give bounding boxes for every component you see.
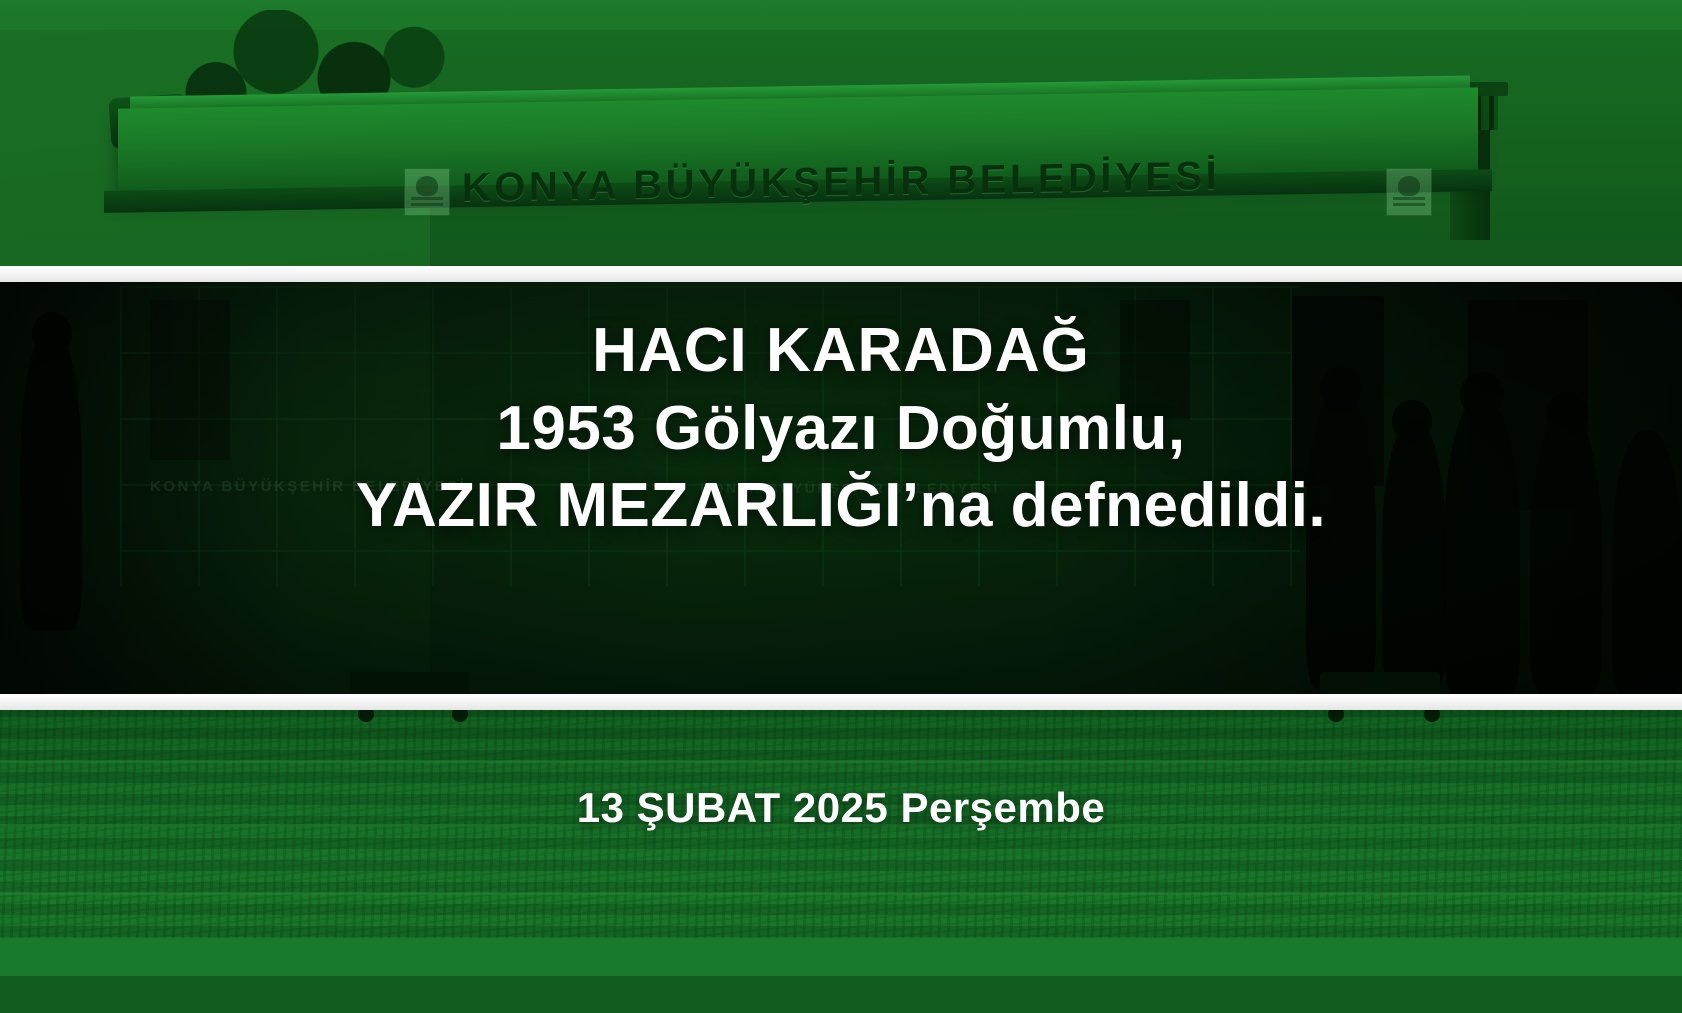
headline-line-1: HACI KARADAĞ	[0, 318, 1682, 384]
divider-bar-bottom	[0, 694, 1682, 710]
bottom-green-bar	[0, 938, 1682, 976]
date-text: 13 ŞUBAT 2025 Perşembe	[0, 784, 1682, 832]
headline-block: HACI KARADAĞ 1953 Gölyazı Doğumlu, YAZIR…	[0, 318, 1682, 539]
paving-texture	[0, 706, 1682, 976]
logo-lines	[1393, 197, 1425, 209]
headline-line-3: YAZIR MEZARLIĞI’na defnedildi.	[0, 473, 1682, 539]
step-edge	[0, 892, 1682, 895]
step-edge	[0, 760, 1682, 763]
headline-line-2: 1953 Gölyazı Doğumlu,	[0, 396, 1682, 462]
paving-ground	[0, 706, 1682, 976]
divider-bar-top	[0, 266, 1682, 282]
announcement-poster: KONYA BÜYÜKŞEHİR BELEDİYESİ KONYA BÜYÜKŞ…	[0, 0, 1682, 1013]
